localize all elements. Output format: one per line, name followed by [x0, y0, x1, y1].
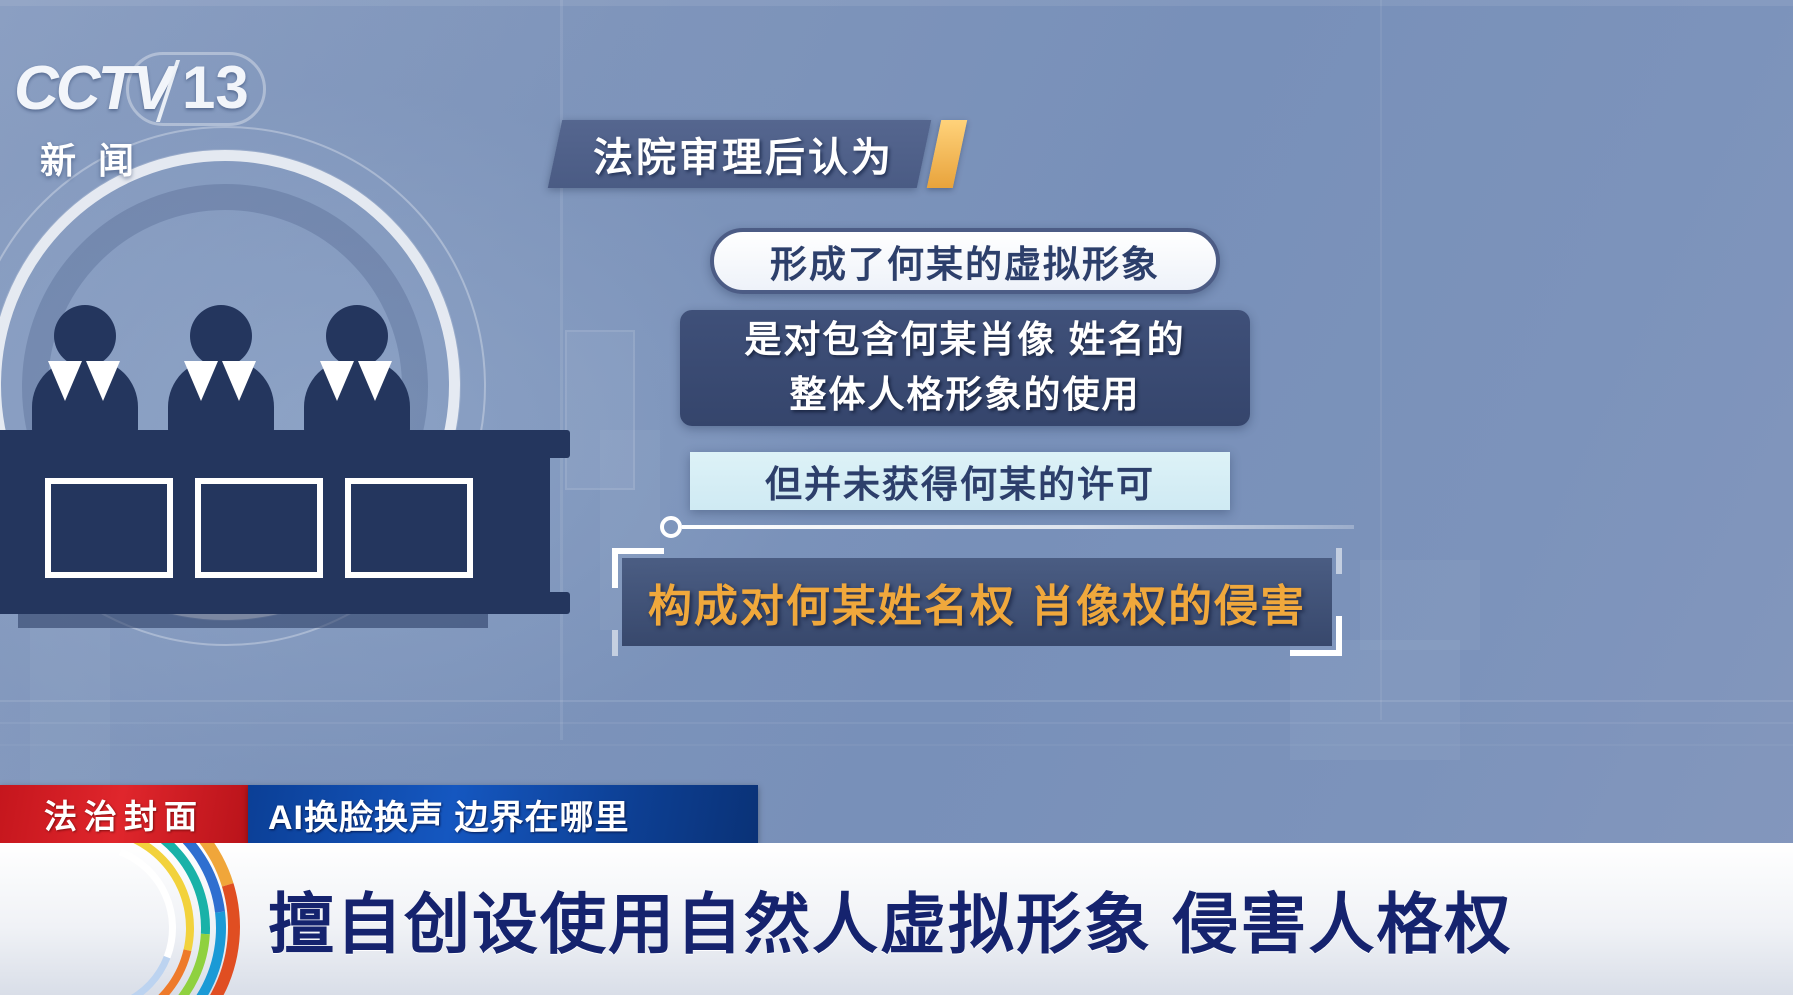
bench-panel	[45, 478, 173, 578]
bench-panel	[195, 478, 323, 578]
courtroom-tribunal-illustration	[0, 140, 600, 720]
bg-horizontal-line-2	[0, 722, 1793, 724]
program-tag-label: 法治封面	[44, 790, 204, 838]
bench-foot	[18, 614, 488, 628]
statement-box-3: 但并未获得何某的许可	[690, 452, 1230, 510]
logo-subtitle: 新闻	[40, 132, 156, 184]
cctv-rainbow-swirl-icon	[0, 843, 262, 995]
circle-node-icon	[660, 516, 682, 538]
section-heading-plate: 法院审理后认为	[548, 120, 931, 188]
headline-bar: 擅自创设使用自然人虚拟形象 侵害人格权	[0, 843, 1793, 995]
bg-band-top	[0, 0, 1793, 6]
connector-group	[660, 516, 1360, 538]
main-headline: 擅自创设使用自然人虚拟形象 侵害人格权	[268, 871, 1512, 967]
bg-square-d	[1360, 560, 1480, 650]
bg-horizontal-line-3	[0, 744, 1793, 746]
judges-bench	[0, 456, 550, 596]
bench-top-rail	[0, 430, 570, 458]
broadcast-frame: CCTV 13 新闻 法院审理后认为 形成了何某的虚拟形象 是对包含何某肖像 姓…	[0, 0, 1793, 995]
program-tag-badge: 法治封面	[0, 785, 248, 843]
bench-panel	[345, 478, 473, 578]
horizontal-rule-icon	[682, 525, 1354, 529]
statement-box-1: 形成了何某的虚拟形象	[710, 228, 1220, 294]
statement-2-line-2: 整体人格形象的使用	[790, 369, 1141, 422]
statement-1-line-1: 形成了何某的虚拟形象	[770, 234, 1160, 288]
topic-badge: AI换脸换声 边界在哪里	[248, 785, 758, 843]
topic-label: AI换脸换声 边界在哪里	[268, 790, 629, 839]
bg-square-c	[1290, 640, 1460, 760]
verdict-banner: 构成对何某姓名权 肖像权的侵害	[612, 548, 1342, 656]
verdict-text: 构成对何某姓名权 肖像权的侵害	[612, 548, 1342, 656]
logo-channel-number: 13	[182, 58, 249, 118]
section-heading: 法院审理后认为	[555, 120, 960, 188]
section-heading-label: 法院审理后认为	[593, 125, 894, 183]
bench-base-rail	[0, 592, 570, 614]
lower-third-top-row: 法治封面 AI换脸换声 边界在哪里	[0, 785, 758, 843]
statement-3-line-1: 但并未获得何某的许可	[765, 454, 1155, 508]
channel-logo: CCTV 13 新闻	[14, 58, 234, 178]
lower-third: 法治封面 AI换脸换声 边界在哪里 擅自创设使用自然人虚拟形象 侵害人格权	[0, 765, 1793, 995]
statement-2-line-1: 是对包含何某肖像 姓名的	[744, 314, 1185, 367]
heading-accent-slash-icon	[927, 120, 967, 188]
statement-box-2: 是对包含何某肖像 姓名的 整体人格形象的使用	[680, 310, 1250, 426]
bg-band-vertical-right	[1380, 0, 1382, 720]
logo-cctv-text: CCTV	[14, 58, 171, 120]
